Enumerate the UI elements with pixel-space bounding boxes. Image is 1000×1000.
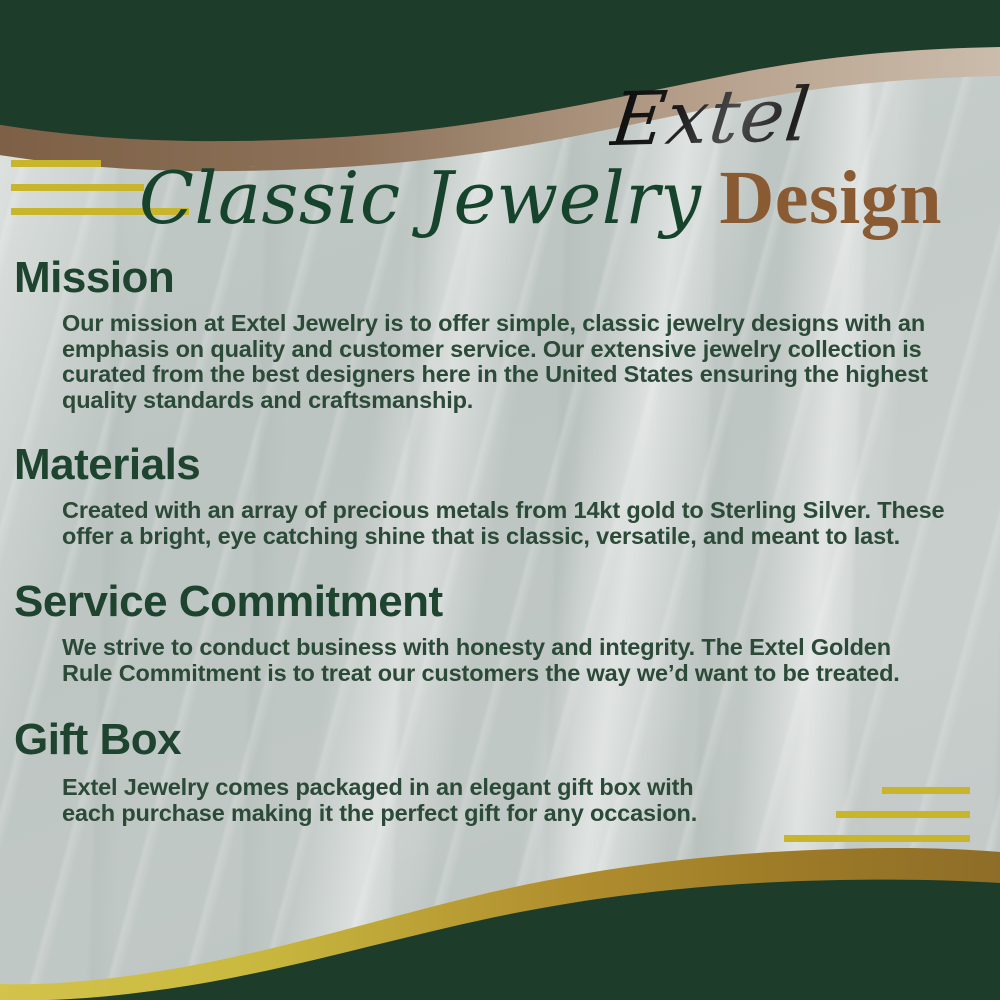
page-title-classic-jewelry: Classic Jewelry xyxy=(139,156,702,240)
section-heading-gift-box: Gift Box xyxy=(0,714,1000,766)
section-body-mission: Our mission at Extel Jewelry is to offer… xyxy=(0,311,1000,413)
page-title: Classic JewelryDesign xyxy=(0,158,1000,238)
section-service-commitment: Service Commitment We strive to conduct … xyxy=(0,576,1000,686)
poster-canvas: Extel Classic JewelryDesign Mission Our … xyxy=(0,0,1000,1000)
deco-line xyxy=(784,835,970,842)
deco-line xyxy=(882,787,970,794)
brand-logo-extel: Extel xyxy=(607,73,857,161)
content-sections: Mission Our mission at Extel Jewelry is … xyxy=(0,252,1000,826)
decorative-lines-bottom-right xyxy=(784,787,970,859)
deco-line xyxy=(836,811,970,818)
page-title-design: Design xyxy=(719,156,942,240)
section-body-service-commitment: We strive to conduct business with hones… xyxy=(0,635,1000,686)
section-materials: Materials Created with an array of preci… xyxy=(0,439,1000,549)
section-body-materials: Created with an array of precious metals… xyxy=(0,498,1000,549)
section-heading-materials: Materials xyxy=(0,439,1000,491)
section-mission: Mission Our mission at Extel Jewelry is … xyxy=(0,252,1000,413)
section-heading-mission: Mission xyxy=(0,252,1000,304)
section-heading-service-commitment: Service Commitment xyxy=(0,576,1000,628)
